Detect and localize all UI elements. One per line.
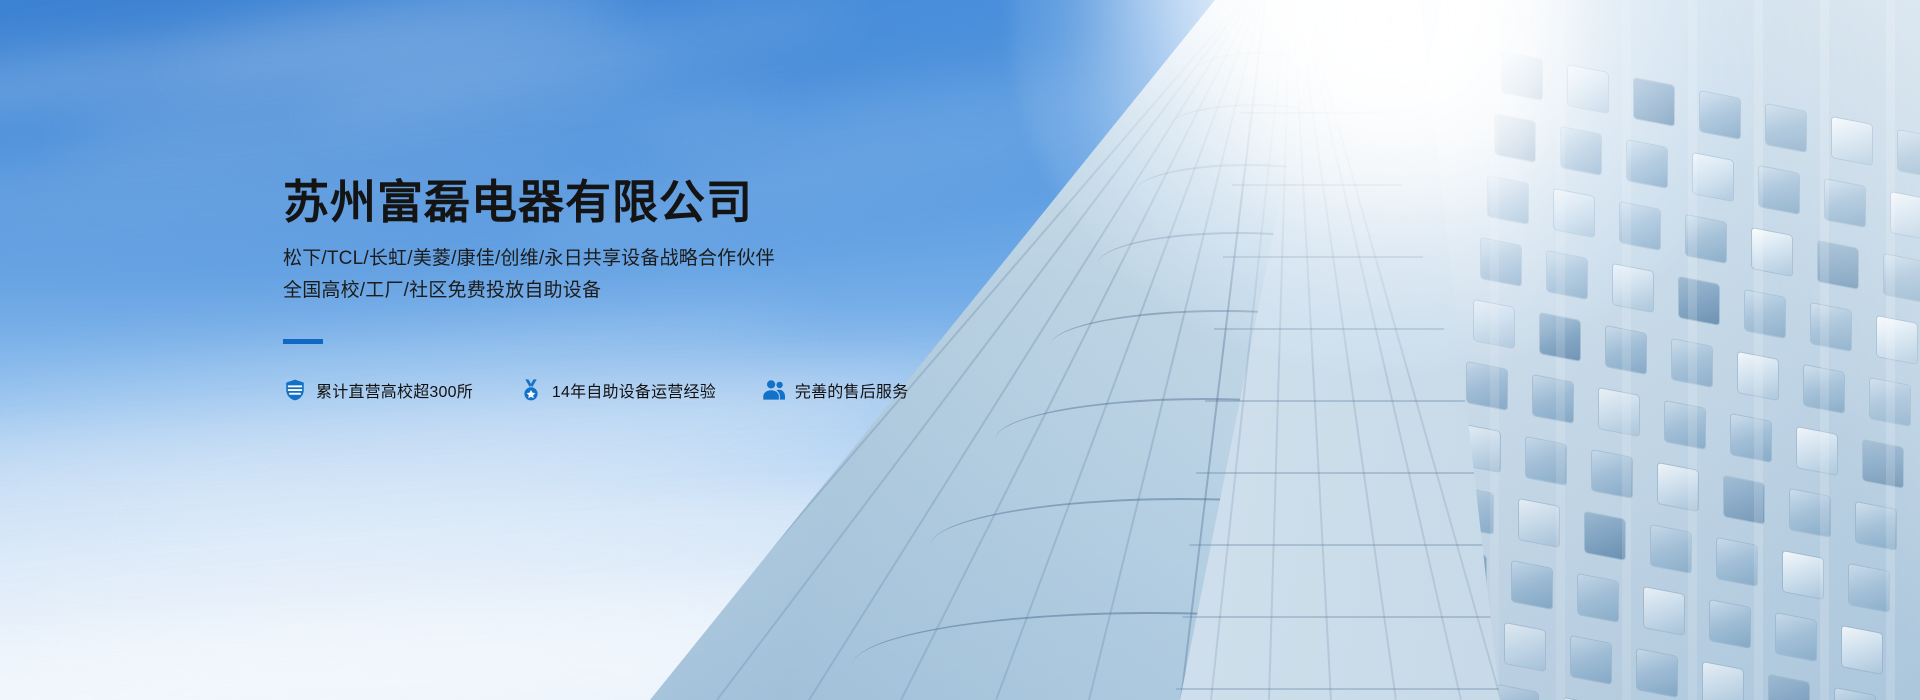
feature-label: 完善的售后服务: [795, 378, 908, 402]
feature-item: 14年自助设备运营经验: [519, 378, 716, 402]
accent-divider: [283, 339, 323, 344]
feature-item: 累计直营高校超300所: [283, 378, 473, 402]
hero-banner: 苏州富磊电器有限公司 松下/TCL/长虹/美菱/康佳/创维/永日共享设备战略合作…: [0, 0, 1920, 700]
subtitle-line-1: 松下/TCL/长虹/美菱/康佳/创维/永日共享设备战略合作伙伴: [283, 243, 1043, 275]
banner-content: 苏州富磊电器有限公司 松下/TCL/长虹/美菱/康佳/创维/永日共享设备战略合作…: [283, 175, 1043, 402]
shield-icon: [283, 378, 307, 402]
feature-item: 完善的售后服务: [762, 378, 908, 402]
medal-icon: [519, 378, 543, 402]
company-title: 苏州富磊电器有限公司: [283, 175, 1043, 229]
feature-label: 14年自助设备运营经验: [552, 378, 716, 402]
users-icon: [762, 378, 786, 402]
feature-list: 累计直营高校超300所14年自助设备运营经验完善的售后服务: [283, 378, 1043, 402]
feature-label: 累计直营高校超300所: [316, 378, 473, 402]
subtitle-line-2: 全国高校/工厂/社区免费投放自助设备: [283, 275, 1043, 307]
